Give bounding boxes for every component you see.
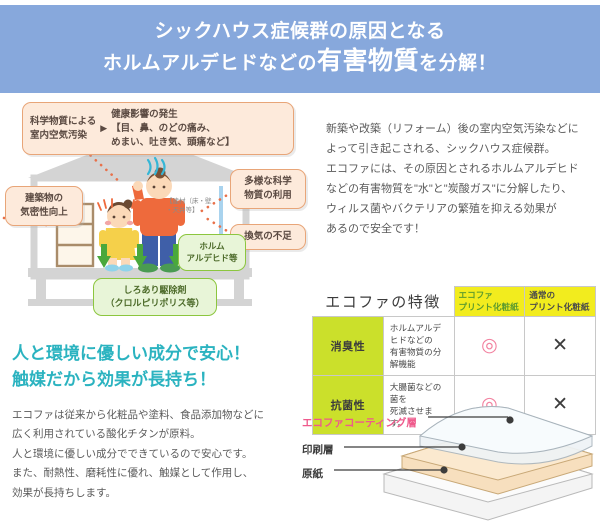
banner-line-2-a: ホルムアルデヒドなどの [103, 53, 317, 74]
body-line-2: 広く利用されている酸化チタンが原料。 [12, 425, 317, 444]
building-material-line-1: 【建材（床・壁 [166, 198, 228, 207]
intro-line-4: などの有害物質を"水"と"炭酸ガス"に分解したり、 [326, 179, 594, 199]
column-header-ecofa: エコファ プリント化粧紙 [454, 287, 525, 317]
column-header-ecofa-line-1: エコファ [459, 290, 521, 302]
callout-effect: 健康影響の発生 【目、鼻、のどの痛み、 めまい、吐き気、頭痛など】 [111, 108, 235, 149]
callout-termite-line-1: しろあり駆除剤 [101, 284, 209, 297]
mark-ecofa-deodorizing: ◎ [454, 317, 525, 376]
body-line-5: 効果が長持ちします。 [12, 484, 317, 503]
callout-airtightness: 建築物の 気密性向上 [5, 186, 83, 226]
callout-indoor-air-pollution: 科学物質による 室内空気汚染 ▶ 健康影響の発生 【目、鼻、のどの痛み、 めまい… [22, 102, 294, 155]
double-circle-icon: ◎ [481, 335, 498, 356]
callout-cause-line-1: 科学物質による [30, 115, 96, 129]
table-header-row: エコファの特徴 エコファ プリント化粧紙 通常の プリント化粧紙 [313, 287, 596, 317]
row-label-deodorizing: 消臭性 [313, 317, 384, 376]
callout-termite-treatment: しろあり駆除剤 （クロルピリポリス等） [93, 278, 217, 316]
body-line-3: 人と環境に優しい成分でできているので安心です。 [12, 445, 317, 464]
layer-structure-diagram: エコファコーティング層 印刷層 原紙 [292, 396, 600, 526]
teal-heading-line-2: 触媒だから効果が長持ち！ [12, 367, 312, 393]
sick-house-illustration: 科学物質による 室内空気汚染 ▶ 健康影響の発生 【目、鼻、のどの痛み、 めまい… [0, 100, 318, 315]
building-material-line-2: ・天井等】 [166, 207, 228, 216]
callout-effect-line-2: 【目、鼻、のどの痛み、 [111, 122, 235, 136]
banner-line-2-emphasis: 有害物質 [317, 47, 419, 75]
callout-diverse-chemicals: 多様な科学 物質の利用 [230, 169, 306, 209]
banner-line-1: シックハウス症候群の原因となる [155, 19, 446, 45]
intro-line-1: 新築や改築（リフォーム）後の室内空気汚染などに [326, 119, 594, 139]
callout-termite-line-2: （クロルピリポリス等） [101, 297, 209, 310]
intro-line-5: ウィルス菌やバクテリアの繁殖を抑える効果が [326, 199, 594, 219]
leader-dot-print [458, 443, 465, 450]
body-line-1: エコファは従来から化粧品や塗料、食品添加物などに [12, 406, 317, 425]
building-material-label: 【建材（床・壁 ・天井等】 [166, 198, 228, 216]
callout-airtightness-line-2: 気密性向上 [13, 206, 75, 220]
layer-label-coating: エコファコーティング層 [302, 415, 417, 430]
header-banner: シックハウス症候群の原因となる ホルムアルデヒドなどの有害物質を分解！ [0, 5, 600, 93]
callout-cause-line-2: 室内空気汚染 [30, 129, 96, 143]
callout-cause: 科学物質による 室内空気汚染 [30, 115, 96, 143]
callout-formaldehyde-line-1: ホルム [186, 240, 238, 252]
leader-dot-coating [506, 416, 513, 423]
layer-label-print: 印刷層 [302, 442, 334, 457]
banner-line-2-c: を分解！ [419, 53, 497, 74]
intro-line-6: あるので安全です！ [326, 219, 594, 239]
layer-label-base: 原紙 [302, 466, 323, 481]
callout-formaldehyde-line-2: アルデヒド等 [186, 252, 238, 264]
intro-line-2: よって引き起こされる、シックハウス症候群。 [326, 139, 594, 159]
column-header-normal-line-1: 通常の [529, 290, 591, 302]
banner-line-2: ホルムアルデヒドなどの有害物質を分解！ [103, 45, 497, 79]
body-paragraph: エコファは従来から化粧品や塗料、食品添加物などに 広く利用されている酸化チタンが… [12, 406, 317, 503]
column-header-normal: 通常の プリント化粧紙 [525, 287, 596, 317]
row-desc-deodorizing-line-1: ホルムアルデヒドなどの [390, 322, 448, 346]
column-header-normal-line-2: プリント化粧紙 [529, 302, 591, 314]
intro-paragraph: 新築や改築（リフォーム）後の室内空気汚染などに よって引き起こされる、シックハウ… [326, 119, 594, 239]
callout-formaldehyde: ホルム アルデヒド等 [178, 234, 246, 271]
foundation-right [234, 277, 244, 301]
cross-icon: ✕ [552, 335, 568, 356]
callout-effect-line-3: めまい、吐き気、頭痛など】 [111, 136, 235, 150]
intro-line-3: エコファには、その原因とされるホルムアルデヒド [326, 159, 594, 179]
teal-heading: 人と環境に優しい成分で安心！ 触媒だから効果が長持ち！ [12, 341, 312, 392]
column-header-ecofa-line-2: プリント化粧紙 [459, 302, 521, 314]
callout-diverse-chemicals-line-1: 多様な科学 [238, 175, 298, 189]
teal-heading-line-1: 人と環境に優しい成分で安心！ [12, 341, 312, 367]
leader-dot-base [440, 466, 447, 473]
callout-effect-line-1: 健康影響の発生 [111, 108, 235, 122]
table-row: 消臭性 ホルムアルデヒドなどの 有害物質の分解機能 ◎ ✕ [313, 317, 596, 376]
arrow-right-icon: ▶ [100, 122, 107, 135]
foundation-left [36, 277, 46, 301]
row-desc-deodorizing: ホルムアルデヒドなどの 有害物質の分解機能 [383, 317, 454, 376]
body-line-4: また、耐熱性、磨耗性に優れ、触媒として作用し、 [12, 464, 317, 483]
row-desc-deodorizing-line-2: 有害物質の分解機能 [390, 346, 448, 370]
callout-diverse-chemicals-line-2: 物質の利用 [238, 189, 298, 203]
table-title: エコファの特徴 [313, 287, 455, 317]
callout-airtightness-line-1: 建築物の [13, 192, 75, 206]
mark-normal-deodorizing: ✕ [525, 317, 596, 376]
